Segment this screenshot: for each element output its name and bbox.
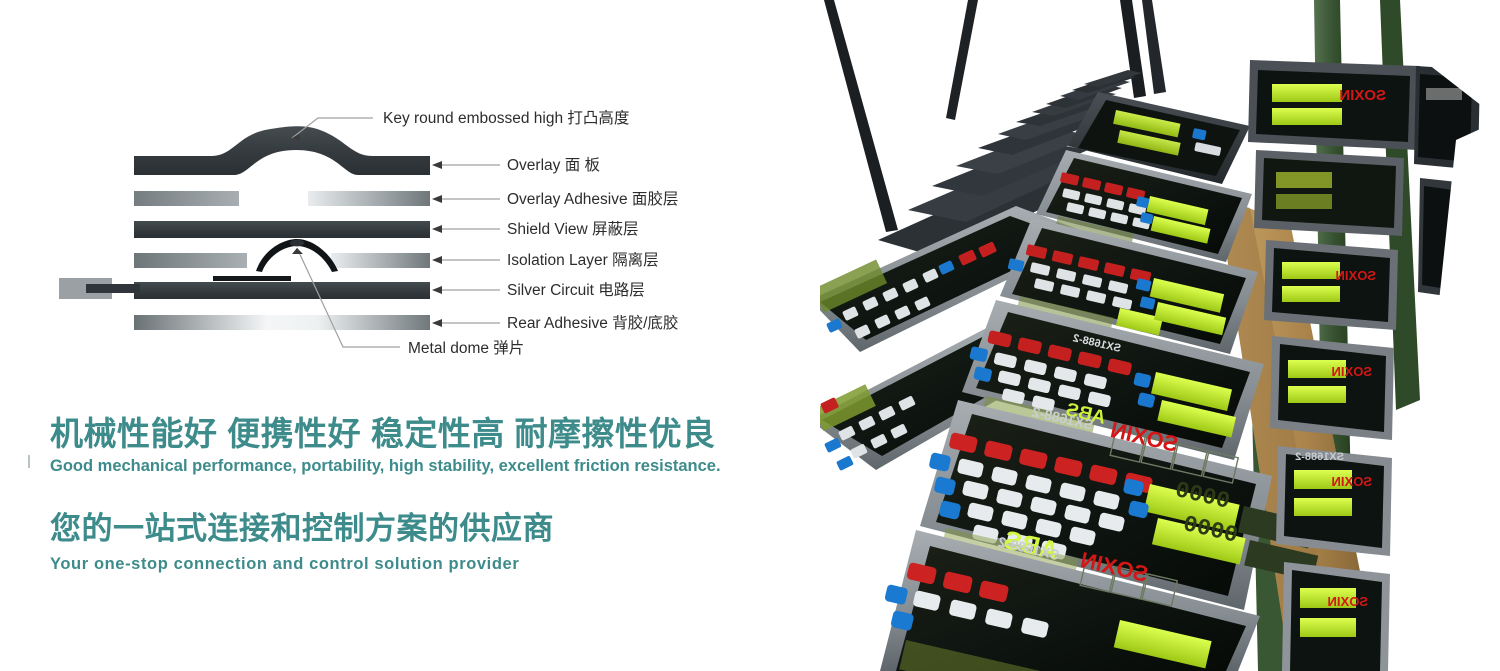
layer-silver-circuit-shape <box>59 276 430 299</box>
edge-tick-artifact <box>28 455 30 468</box>
brand-label-right-5: SOXIN <box>1328 594 1368 609</box>
brand-label-right-4: SOXIN <box>1332 474 1372 489</box>
slogan-2-english: Your one-stop connection and control sol… <box>50 553 790 575</box>
slogan-2-chinese: 您的一站式连接和控制方案的供应商 <box>50 511 790 547</box>
brand-label-right-3: SOXIN <box>1332 364 1372 379</box>
callout-silver-circuit: Silver Circuit 电路层 <box>507 281 645 299</box>
layer-rear-adhesive-shape <box>134 315 430 330</box>
promo-banner: Key round embossed high 打凸高度 Overlay 面 板… <box>0 0 1500 671</box>
membrane-switch-diagram: Key round embossed high 打凸高度 Overlay 面 板… <box>0 96 790 396</box>
dro-rack-photo: ABS SX1688-2 <box>820 0 1500 671</box>
layer-isolation-shape <box>134 253 430 268</box>
callout-shield-view: Shield View 屏蔽层 <box>507 220 639 238</box>
callout-overlay: Overlay 面 板 <box>507 156 600 174</box>
brand-label-topright: SOXIN <box>1339 87 1386 104</box>
layer-overlay-adhesive-shape <box>134 191 430 206</box>
callout-rear-adhesive: Rear Adhesive 背胶/底胶 <box>507 314 678 332</box>
slogan-1-english: Good mechanical performance, portability… <box>50 455 790 477</box>
marketing-copy: 机械性能好 便携性好 稳定性高 耐摩擦性优良 Good mechanical p… <box>50 415 790 575</box>
metal-dome-shape <box>256 239 338 272</box>
layer-shield-view-shape <box>134 221 430 238</box>
slogan-1-chinese: 机械性能好 便携性好 稳定性高 耐摩擦性优良 <box>50 415 790 453</box>
callout-isolation-layer: Isolation Layer 隔离层 <box>507 251 659 269</box>
brand-label-right-2: SOXIN <box>1336 268 1376 283</box>
callout-metal-dome: Metal dome 弹片 <box>408 339 524 357</box>
layer-overlay-shape <box>134 126 430 175</box>
model-label-right-4: SX1688-2 <box>1295 451 1344 463</box>
callout-key-round-embossed-high: Key round embossed high 打凸高度 <box>383 109 629 127</box>
callout-overlay-adhesive: Overlay Adhesive 面胶层 <box>507 190 678 208</box>
left-panel: Key round embossed high 打凸高度 Overlay 面 板… <box>0 0 820 671</box>
